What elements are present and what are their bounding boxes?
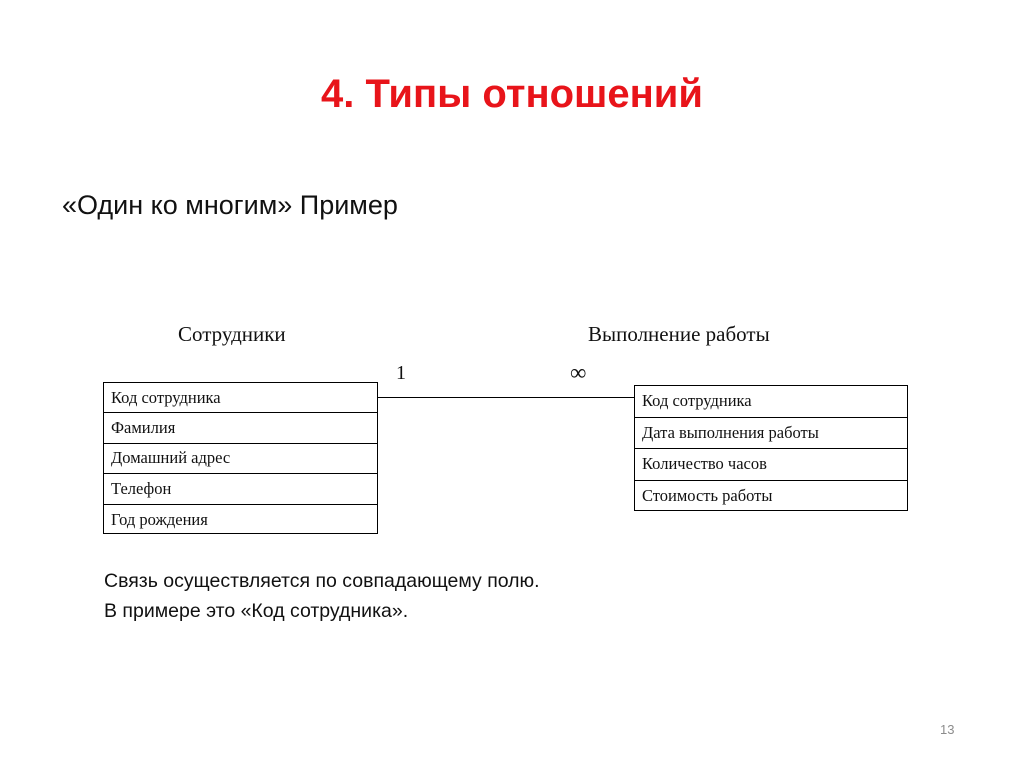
entity-table-employees: Код сотрудника Фамилия Домашний адрес Те… <box>103 382 378 534</box>
caption: Связь осуществляется по совпадающему пол… <box>104 566 540 626</box>
page-number: 13 <box>940 722 954 737</box>
table-row: Домашний адрес <box>104 444 377 474</box>
entity-table-work: Код сотрудника Дата выполнения работы Ко… <box>634 385 908 511</box>
page-title: 4. Типы отношений <box>0 72 1024 117</box>
table-row: Фамилия <box>104 413 377 443</box>
table-row: Телефон <box>104 474 377 504</box>
table-row: Дата выполнения работы <box>635 418 907 450</box>
cardinality-many-label: ∞ <box>570 360 586 386</box>
relation-connector-line <box>378 397 634 398</box>
slide: 4. Типы отношений «Один ко многим» Приме… <box>0 0 1024 767</box>
caption-line-2: В примере это «Код сотрудника». <box>104 596 540 626</box>
table-row: Количество часов <box>635 449 907 481</box>
caption-line-1: Связь осуществляется по совпадающему пол… <box>104 566 540 596</box>
table-row: Год рождения <box>104 505 377 535</box>
table-row: Код сотрудника <box>635 386 907 418</box>
slide-subtitle: «Один ко многим» Пример <box>62 190 398 221</box>
entity-title-employees: Сотрудники <box>178 322 286 347</box>
entity-title-work: Выполнение работы <box>588 322 770 347</box>
table-row: Код сотрудника <box>104 383 377 413</box>
cardinality-one-label: 1 <box>396 362 406 385</box>
table-row: Стоимость работы <box>635 481 907 513</box>
